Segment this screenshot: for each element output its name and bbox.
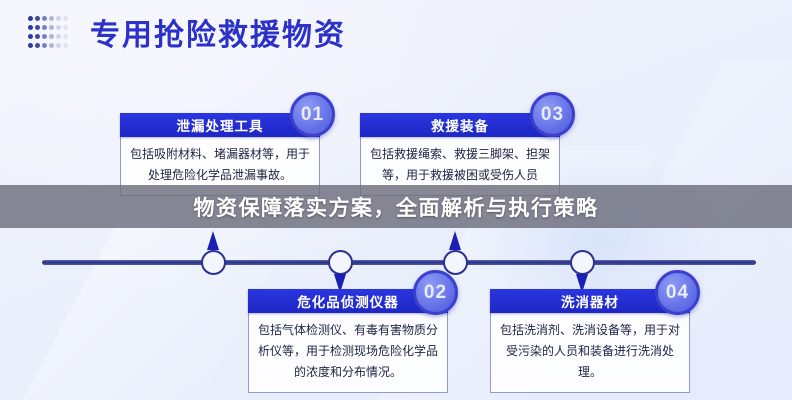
dot-grid-dot xyxy=(63,25,68,30)
timeline-arrow-up-icon xyxy=(449,231,461,250)
dot-grid-dot xyxy=(28,16,33,21)
dot-grid-icon xyxy=(28,14,74,50)
info-card-03[interactable]: 救援装备 包括救援绳索、救援三脚架、担架等，用于救援被困或受伤人员 03 xyxy=(360,113,560,196)
timeline-node[interactable] xyxy=(570,250,595,275)
card-title: 救援装备 xyxy=(431,115,489,135)
dot-grid-dot xyxy=(49,16,54,21)
timeline-axis xyxy=(42,260,756,265)
dot-grid-dot xyxy=(56,25,61,30)
caption-overlay-band: 物资保障落实方案，全面解析与执行策略 xyxy=(0,185,792,228)
caption-text: 物资保障落实方案，全面解析与执行策略 xyxy=(194,192,599,222)
card-title: 泄漏处理工具 xyxy=(177,115,264,135)
card-body: 包括气体检测仪、有毒有害物质分析仪等，用于检测现场危险化学品的浓度和分布情况。 xyxy=(248,313,448,393)
card-number-badge: 02 xyxy=(413,270,458,315)
dot-grid-dot xyxy=(56,16,61,21)
dot-grid-dot xyxy=(35,16,40,21)
card-number-badge: 01 xyxy=(290,92,335,137)
slide-header: 专用抢险救援物资 xyxy=(28,10,346,54)
dot-grid-dot xyxy=(35,43,40,48)
info-card-01[interactable]: 泄漏处理工具 包括吸附材料、堵漏器材等，用于处理危险化学品泄漏事故。 01 xyxy=(120,113,320,196)
dot-grid-dot xyxy=(56,34,61,39)
info-card-04[interactable]: 洗消器材 包括洗消剂、洗消设备等，用于对受污染的人员和装备进行洗消处理。 04 xyxy=(490,289,690,393)
timeline-arrow-up-icon xyxy=(207,231,219,250)
dot-grid-dot xyxy=(63,34,68,39)
dot-grid-dot xyxy=(49,34,54,39)
dot-grid-dot xyxy=(35,25,40,30)
dot-grid-dot xyxy=(56,43,61,48)
slide-canvas: 专用抢险救援物资 泄漏处理工具 包括吸附材料、堵漏器材等，用于处理危险化学品泄漏… xyxy=(0,0,792,400)
dot-grid-dot xyxy=(49,25,54,30)
dot-grid-dot xyxy=(42,25,47,30)
card-number-badge: 03 xyxy=(530,92,575,137)
card-title: 危化品侦测仪器 xyxy=(297,291,399,311)
dot-grid-dot xyxy=(42,43,47,48)
dot-grid-dot xyxy=(42,16,47,21)
dot-grid-dot xyxy=(28,25,33,30)
timeline-node[interactable] xyxy=(328,250,353,275)
card-number-badge: 04 xyxy=(655,270,700,315)
dot-grid-dot xyxy=(63,43,68,48)
timeline-node[interactable] xyxy=(443,250,468,275)
dot-grid-dot xyxy=(28,34,33,39)
timeline-node[interactable] xyxy=(201,250,226,275)
card-title: 洗消器材 xyxy=(561,291,619,311)
dot-grid-dot xyxy=(63,16,68,21)
dot-grid-dot xyxy=(35,34,40,39)
info-card-02[interactable]: 危化品侦测仪器 包括气体检测仪、有毒有害物质分析仪等，用于检测现场危险化学品的浓… xyxy=(248,289,448,393)
dot-grid-dot xyxy=(28,43,33,48)
dot-grid-dot xyxy=(49,43,54,48)
page-title: 专用抢险救援物资 xyxy=(90,10,346,54)
card-body: 包括洗消剂、洗消设备等，用于对受污染的人员和装备进行洗消处理。 xyxy=(490,313,690,393)
dot-grid-dot xyxy=(42,34,47,39)
